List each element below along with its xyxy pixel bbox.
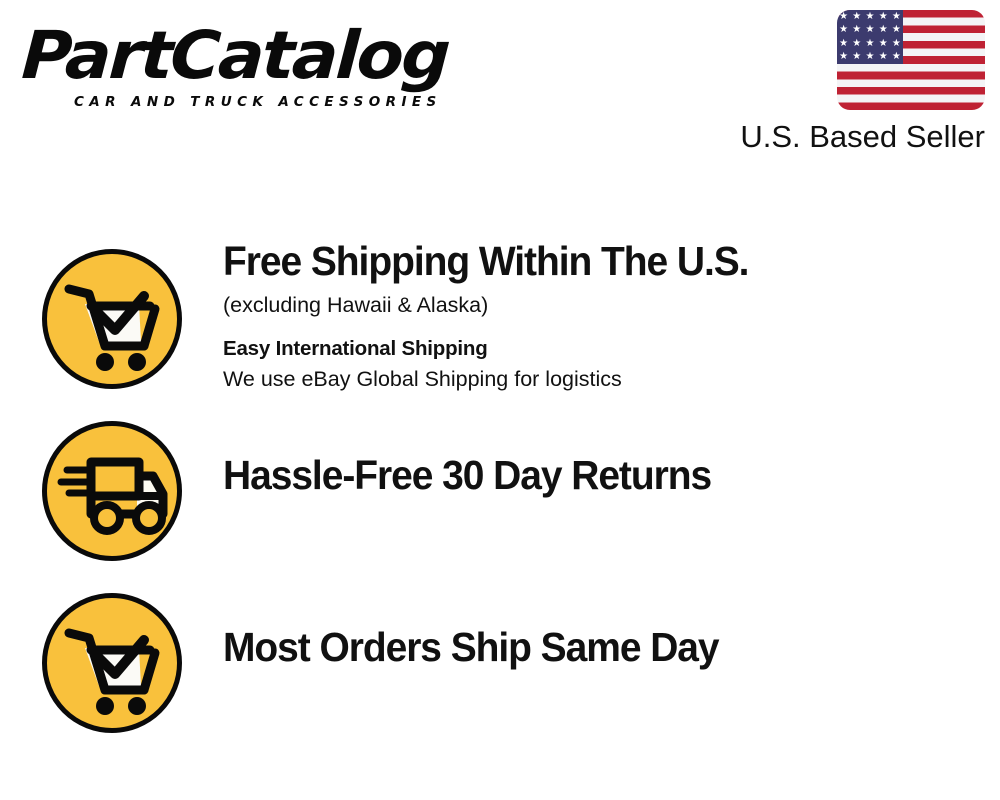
seller-label: U.S. Based Seller [725,119,985,155]
feature-row: Hassle-Free 30 Day Returns [0,408,1000,580]
feature-text: Hassle-Free 30 Day Returns [223,452,990,499]
feature-row: Free Shipping Within The U.S. (excluding… [0,236,1000,408]
feature-subheading: Easy International Shipping [223,333,990,364]
fast-delivery-truck-icon [42,421,182,561]
cart-check-icon [42,249,182,389]
flag-canton: ★★★★★ ★★★★★ ★★★★★ ★★★★★ [837,10,903,64]
feature-title: Most Orders Ship Same Day [223,624,952,671]
feature-title: Hassle-Free 30 Day Returns [223,452,952,499]
promo-banner: PartCatalog CAR AND TRUCK ACCESSORIES ★★… [0,0,1000,800]
feature-text: Free Shipping Within The U.S. (excluding… [223,238,990,395]
feature-subdetail: We use eBay Global Shipping for logistic… [223,364,990,395]
us-based-seller-badge: ★★★★★ ★★★★★ ★★★★★ ★★★★★ U.S. Based Selle… [725,10,985,155]
brand-logo[interactable]: PartCatalog CAR AND TRUCK ACCESSORIES [22,20,492,110]
feature-text: Most Orders Ship Same Day [223,624,990,671]
feature-row: Most Orders Ship Same Day [0,580,1000,752]
feature-title: Free Shipping Within The U.S. [223,238,952,285]
flag-stars: ★★★★★ ★★★★★ ★★★★★ ★★★★★ [837,10,903,64]
feature-list: Free Shipping Within The U.S. (excluding… [0,236,1000,752]
us-flag-icon: ★★★★★ ★★★★★ ★★★★★ ★★★★★ [837,10,985,110]
brand-wordmark: PartCatalog [20,20,513,92]
cart-check-icon [42,593,182,733]
feature-subnote: (excluding Hawaii & Alaska) [223,290,990,321]
brand-tagline: CAR AND TRUCK ACCESSORIES [74,94,492,110]
